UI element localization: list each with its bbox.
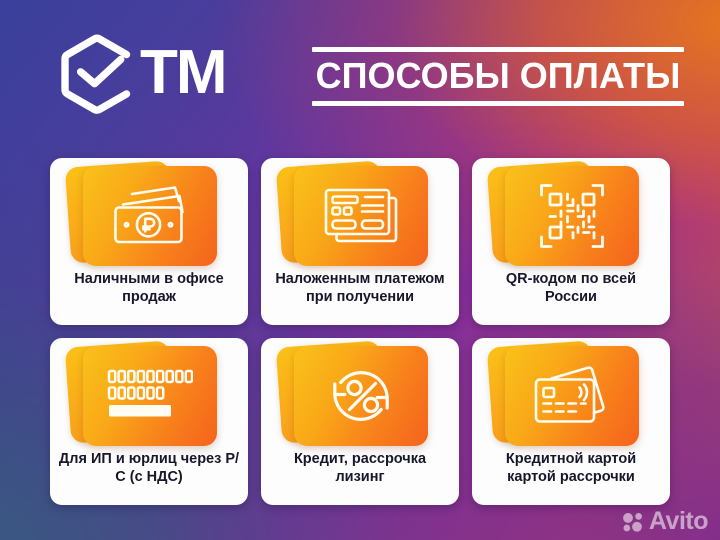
hexagon-check-logo-icon bbox=[56, 32, 138, 114]
percent-refresh-icon bbox=[327, 362, 395, 430]
payment-method-card[interactable]: Наложенным платежом при получении bbox=[261, 158, 459, 325]
avito-watermark-text: Avito bbox=[649, 509, 708, 534]
brand-logo: ТМ bbox=[56, 32, 226, 114]
card-caption: Кредитной картой картой рассрочки bbox=[472, 448, 670, 505]
tile-front-layer bbox=[83, 346, 217, 446]
banknotes-ruble-icon bbox=[109, 185, 191, 247]
tile-front-layer bbox=[294, 346, 428, 446]
payment-methods-grid: Наличными в офисе продаж bbox=[50, 158, 670, 505]
qr-code-icon bbox=[539, 183, 605, 249]
card-caption: QR-кодом по всей России bbox=[472, 268, 670, 325]
payment-method-card[interactable]: Наличными в офисе продаж bbox=[50, 158, 248, 325]
avito-dots-icon bbox=[622, 512, 644, 532]
tile-front-layer bbox=[294, 166, 428, 266]
card-caption: Кредит, рассрочка лизинг bbox=[261, 448, 459, 505]
avito-watermark: Avito bbox=[622, 509, 708, 534]
payment-method-card[interactable]: QR-кодом по всей России bbox=[472, 158, 670, 325]
poster-header: ТМ СПОСОБЫ ОПЛАТЫ bbox=[0, 0, 720, 140]
title-rule-bottom bbox=[312, 101, 684, 106]
payment-method-card[interactable]: Для ИП и юрлиц через Р/С (с НДС) bbox=[50, 338, 248, 505]
invoice-document-icon bbox=[321, 186, 401, 246]
card-caption: Наложенным платежом при получении bbox=[261, 268, 459, 325]
card-caption: Для ИП и юрлиц через Р/С (с НДС) bbox=[50, 448, 248, 505]
icon-tile bbox=[50, 158, 248, 268]
icon-tile bbox=[261, 338, 459, 448]
tile-front-layer bbox=[505, 346, 639, 446]
icon-tile bbox=[261, 158, 459, 268]
payment-method-card[interactable]: Кредитной картой картой рассрочки bbox=[472, 338, 670, 505]
title-block: СПОСОБЫ ОПЛАТЫ bbox=[312, 47, 684, 106]
credit-cards-nfc-icon bbox=[532, 365, 612, 427]
brand-logo-text: ТМ bbox=[140, 42, 226, 104]
tile-front-layer bbox=[83, 166, 217, 266]
tile-front-layer bbox=[505, 166, 639, 266]
icon-tile bbox=[472, 338, 670, 448]
icon-tile bbox=[50, 338, 248, 448]
poster-canvas: ТМ СПОСОБЫ ОПЛАТЫ bbox=[0, 0, 720, 540]
payment-method-card[interactable]: Кредит, рассрочка лизинг bbox=[261, 338, 459, 505]
keyboard-terminal-icon bbox=[107, 369, 193, 423]
icon-tile bbox=[472, 158, 670, 268]
page-title: СПОСОБЫ ОПЛАТЫ bbox=[312, 52, 684, 99]
card-caption: Наличными в офисе продаж bbox=[50, 268, 248, 325]
